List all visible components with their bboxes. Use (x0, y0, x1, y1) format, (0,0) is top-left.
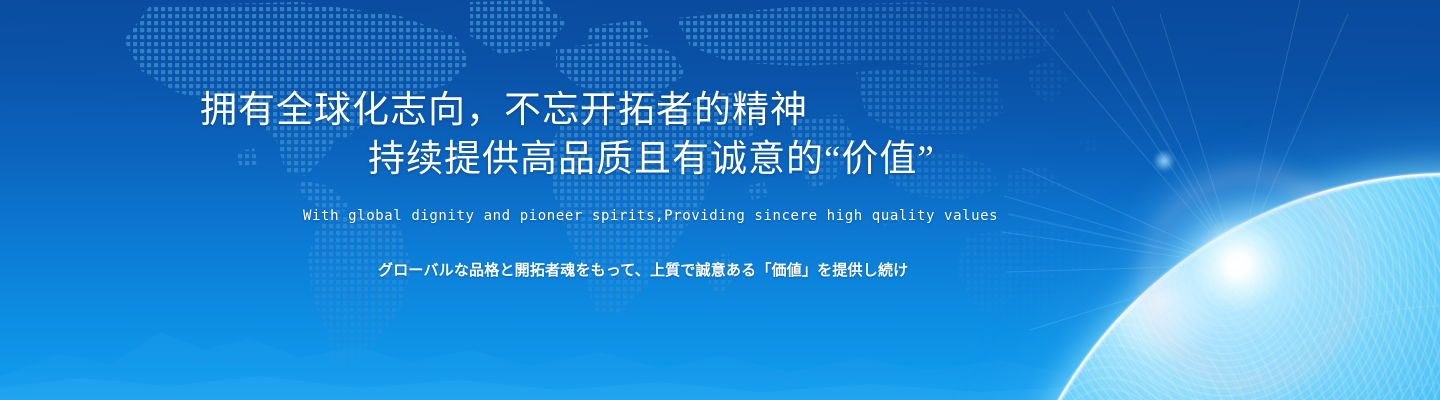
planet-rim-highlight (902, 77, 1440, 400)
planet-arc-outer (1140, 305, 1440, 400)
dotted-world-map (0, 0, 1180, 400)
headline-line-1: 拥有全球化志向，不忘开拓者的精神 (200, 90, 808, 131)
banner-copy: 拥有全球化志向，不忘开拓者的精神 持续提供高品质且有诚意的“价值” With g… (0, 0, 1440, 400)
lens-flare-dot (1153, 150, 1175, 172)
earth-planet-limb (880, 0, 1440, 400)
headline-line-2: 持续提供高品质且有诚意的“价值” (200, 135, 935, 184)
flare-rays (0, 0, 1440, 400)
planet-body (1000, 175, 1440, 400)
subtitle-japanese: グローバルな品格と開拓者魂をもって、上質で誠意ある「価値」を提供し続け (378, 259, 908, 281)
subtitle-english: With global dignity and pioneer spirits,… (303, 206, 998, 226)
page-title: 拥有全球化志向，不忘开拓者的精神 持续提供高品质且有诚意的“价值” (200, 86, 935, 184)
mountain-silhouette (0, 280, 1180, 400)
planet-arc-inner (1210, 380, 1440, 400)
planet-surface-texture (1000, 175, 1440, 400)
hero-banner: 拥有全球化志向，不忘开拓者的精神 持续提供高品质且有诚意的“价值” With g… (0, 0, 1440, 400)
